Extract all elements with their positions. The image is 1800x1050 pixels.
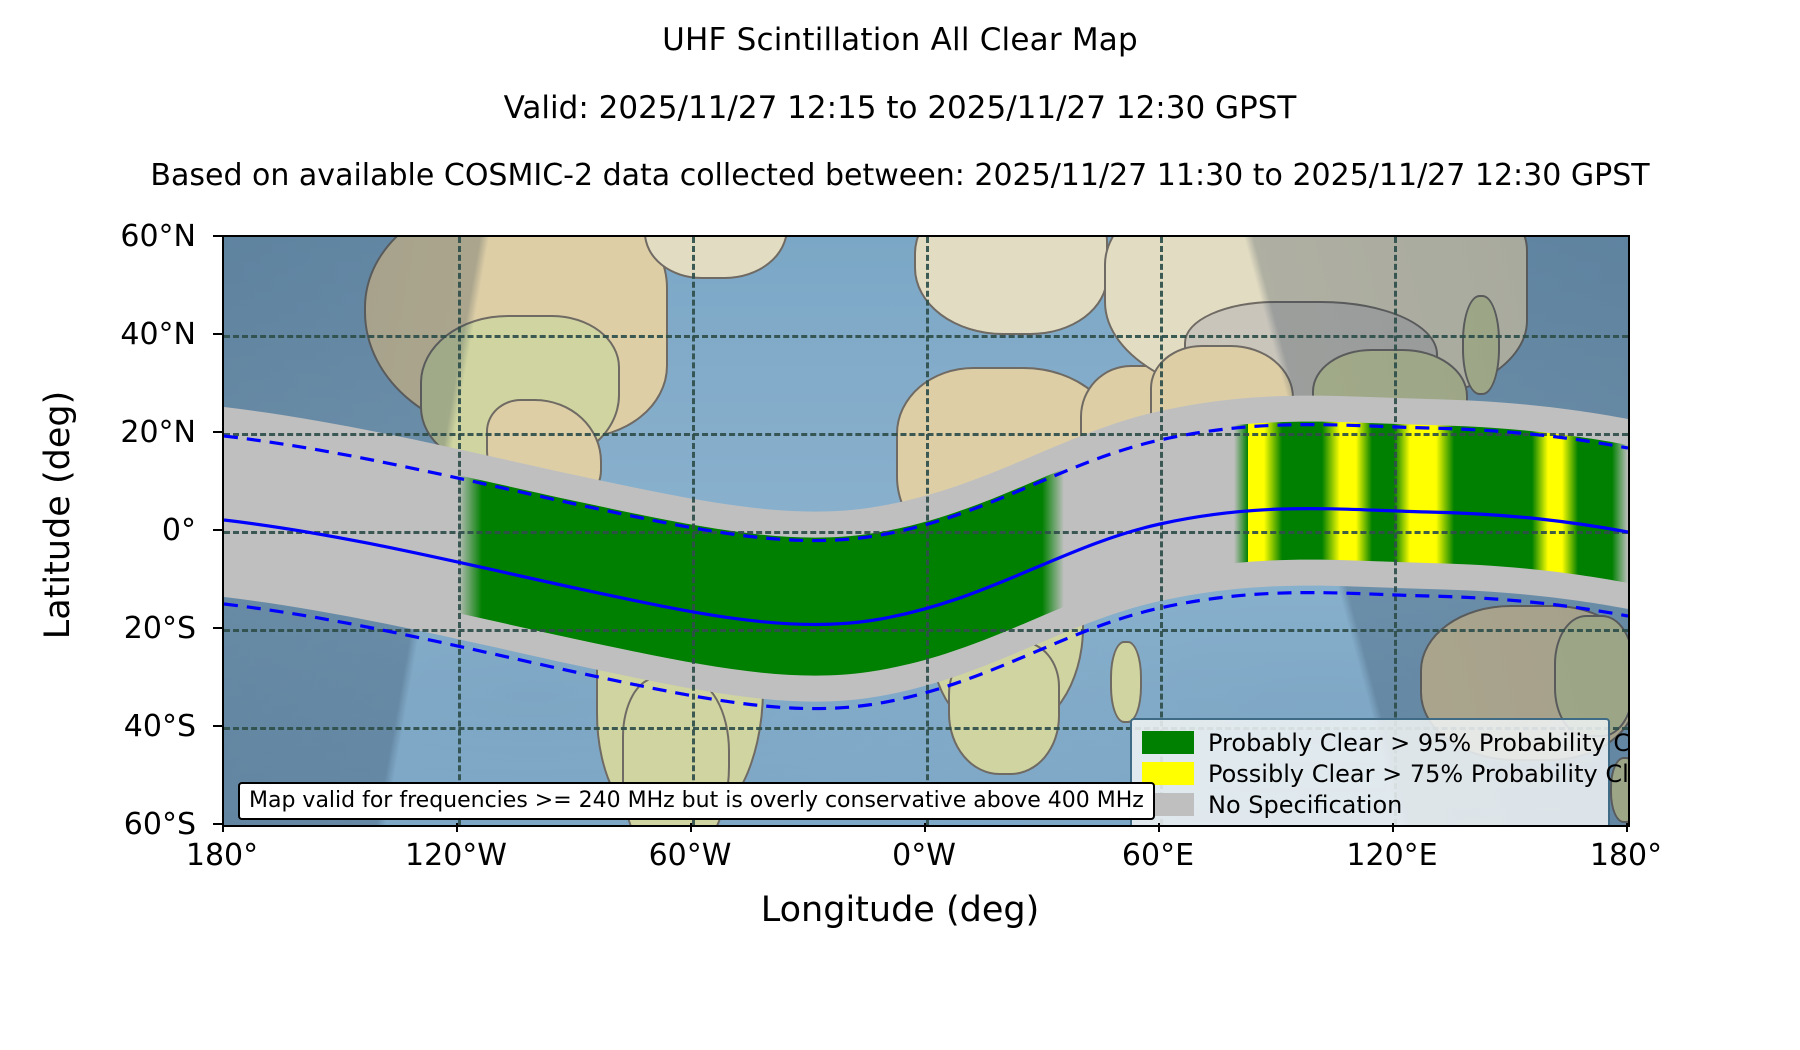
x-tick-label: 60°E bbox=[1058, 838, 1258, 873]
magnetic-equator-north-bound bbox=[224, 425, 1628, 541]
x-tick-label: 180° bbox=[1526, 838, 1726, 873]
legend-swatch-probably-clear bbox=[1142, 731, 1194, 754]
legend-label-no-specification: No Specification bbox=[1208, 793, 1402, 817]
y-tick-label: 20°S bbox=[0, 611, 196, 646]
page-title: UHF Scintillation All Clear Map bbox=[0, 22, 1800, 58]
legend-label-possibly-clear: Possibly Clear > 75% Probability Clear bbox=[1208, 762, 1630, 786]
frequency-validity-note: Map valid for frequencies >= 240 MHz but… bbox=[238, 782, 1155, 820]
y-tick-label: 0° bbox=[0, 513, 196, 548]
y-tick-label: 40°S bbox=[0, 709, 196, 744]
x-tick-label: 120°E bbox=[1292, 838, 1492, 873]
legend-item-no-specification: No Specification bbox=[1142, 789, 1598, 820]
y-tick-label: 60°N bbox=[0, 219, 196, 254]
y-tick-label: 20°N bbox=[0, 415, 196, 450]
x-tick-label: 120°W bbox=[356, 838, 556, 873]
x-tick-label: 0°W bbox=[824, 838, 1024, 873]
map-plot-area[interactable]: Probably Clear > 95% Probability Clear P… bbox=[222, 235, 1630, 827]
x-axis-label: Longitude (deg) bbox=[0, 890, 1800, 930]
x-tick-label: 60°W bbox=[590, 838, 790, 873]
magnetic-equator-line bbox=[224, 509, 1628, 625]
map-legend: Probably Clear > 95% Probability Clear P… bbox=[1130, 718, 1610, 827]
y-tick-label: 60°S bbox=[0, 807, 196, 842]
y-tick-label: 40°N bbox=[0, 317, 196, 352]
y-axis-label: Latitude (deg) bbox=[38, 235, 78, 795]
legend-item-possibly-clear: Possibly Clear > 75% Probability Clear bbox=[1142, 758, 1598, 789]
legend-item-probably-clear: Probably Clear > 95% Probability Clear bbox=[1142, 727, 1598, 758]
legend-label-probably-clear: Probably Clear > 95% Probability Clear bbox=[1208, 731, 1630, 755]
valid-time-text: Valid: 2025/11/27 12:15 to 2025/11/27 12… bbox=[0, 90, 1800, 126]
x-tick-label: 180° bbox=[122, 838, 322, 873]
data-basis-text: Based on available COSMIC-2 data collect… bbox=[0, 158, 1800, 193]
